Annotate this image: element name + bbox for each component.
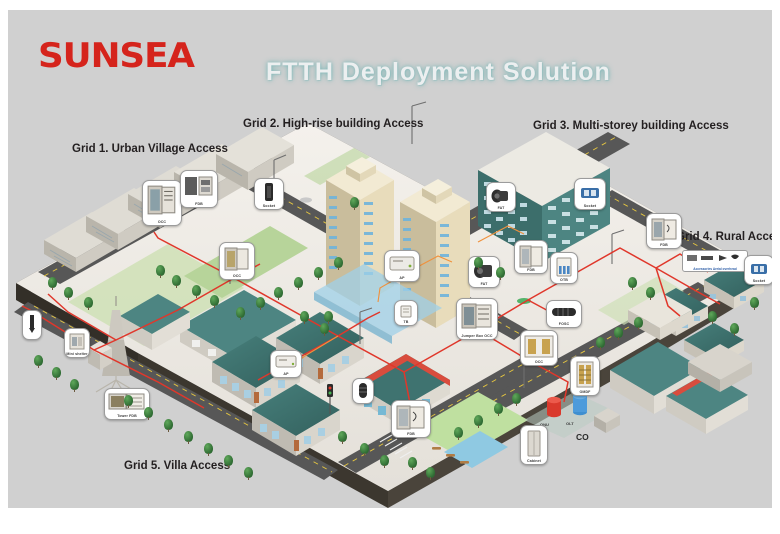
tree [628,276,637,290]
tree [314,266,323,280]
grid-label-4: Grid 4. Rural Access [676,231,772,243]
tree [320,322,329,336]
tree [124,394,133,408]
tree [164,418,173,432]
diagram-canvas: SUNSEA FTTH Deployment Solution Grid 1. … [8,10,772,508]
tree [236,306,245,320]
tree [204,442,213,456]
callout-occ-street-left[interactable]: OCC [219,242,255,280]
callout-label: FAT [487,206,515,210]
ap-icon [274,354,298,370]
tree [474,256,483,270]
shelter-icon [68,332,86,352]
cabinet-open-icon [223,246,251,274]
otb-icon [554,256,574,278]
callout-label: FDB [515,268,547,272]
tree [34,354,43,368]
brand-logo: SUNSEA [38,36,194,76]
cabinet-open-icon [395,404,427,432]
tree [144,406,153,420]
tree [496,266,505,280]
callout-label: OCC [220,274,254,278]
tree [210,294,219,308]
callout-drop-cable-left[interactable] [22,310,42,340]
grid-label-5: Grid 5. Villa Access [124,460,230,472]
tree [52,366,61,380]
tree [730,322,739,336]
drop-icon [26,314,38,334]
tree [646,286,655,300]
callout-socket-rural[interactable]: Socket [744,255,772,285]
socket-icon [578,182,602,204]
tb-icon [398,304,414,320]
tree [708,310,717,324]
tree [224,454,233,468]
callout-fdb-villa-store[interactable]: FDB [391,400,431,438]
callout-label: Socket [745,279,772,283]
olt-label: OLT [566,421,574,426]
callout-label: FOSC [547,322,581,326]
tree [156,264,165,278]
tree [70,378,79,392]
tree [360,442,369,456]
callout-occ-downtown[interactable]: OCC [520,330,558,366]
callout-fdb-multistorey[interactable]: FDB [514,240,548,274]
cabinet-tall-icon [524,429,544,459]
occ-racks-icon [524,334,554,360]
accessories-caption: Accessories Aerial overhead [683,267,747,271]
tree [596,336,605,350]
cabinet-open-icon [650,217,678,243]
tree [64,286,73,300]
callout-socket-urban-village[interactable]: Socket [254,178,284,210]
tree [454,426,463,440]
tree [172,274,181,288]
tree [256,296,265,310]
callout-fdb-urban-village[interactable]: FDB [180,170,218,208]
callout-label: Tower FDB [105,414,149,418]
callout-fat-multistorey[interactable]: FAT [486,182,516,212]
tree [84,296,93,310]
tree [408,456,417,470]
callout-label: FAT [469,282,499,286]
callout-label: OMDF [571,390,599,394]
tree [380,454,389,468]
callout-cabinet-co[interactable]: Cabinet [520,425,548,465]
tree [184,430,193,444]
callout-label: Jumper Box OCC [457,334,497,338]
grid-label-3: Grid 3. Multi-storey building Access [533,120,729,132]
tree [300,310,309,324]
callout-label: AP [385,276,419,280]
tree [614,326,623,340]
callout-omdf-downtown[interactable]: OMDF [570,356,600,396]
callout-ap-highrise[interactable]: AP [384,250,420,282]
callout-tb-highrise[interactable]: TB [394,300,418,326]
callout-label: FDB [181,202,217,206]
cabinet-open-icon [518,244,544,270]
callout-label: OCC [521,360,557,364]
callout-jumper-box-occ[interactable]: Jumper Box OCC [456,298,498,340]
callout-socket-multistorey[interactable]: Socket [574,178,606,210]
tree [48,276,57,290]
callout-label: TB [395,320,417,324]
grid-label-2: Grid 2. High-rise building Access [243,118,423,130]
tree [294,276,303,290]
tree [634,316,643,330]
callout-occ-urban-village[interactable]: OCC [142,180,182,226]
callout-label: OCC [143,220,181,224]
accessories-panel: Accessories Aerial overhead [682,250,748,272]
page-title: FTTH Deployment Solution [266,58,611,87]
callout-label: FDB [647,243,681,247]
tree [274,286,283,300]
callout-label: Socket [255,204,283,208]
callout-label: Cabinet [521,459,547,463]
omdf-icon [574,360,596,390]
socket-icon [748,259,770,279]
ap-icon [388,254,416,274]
tree [750,296,759,310]
tree [192,284,201,298]
cabinet-open-icon [146,184,178,218]
callout-label: AP [271,372,301,376]
callout-ap-villa[interactable]: AP [270,350,302,378]
callout-closure-villa[interactable] [352,378,374,404]
tree [324,310,333,324]
closure-icon [490,186,512,206]
tree [338,430,347,444]
socket-icon [258,182,280,204]
tree [474,414,483,428]
inline-closure-icon [550,304,578,320]
tree [334,256,343,270]
callout-fosc-street[interactable]: FOSC [546,300,582,328]
tree [494,402,503,416]
callout-label: Socket [575,204,605,208]
callout-fdb-rural[interactable]: FDB [646,213,682,249]
inline-closure-icon [356,382,370,400]
callout-label: Mini shelter [65,352,89,356]
screenshot-root: SUNSEA FTTH Deployment Solution Grid 1. … [0,0,780,534]
tree [512,392,521,406]
tree [426,466,435,480]
cabinet-open-icon [460,302,494,332]
callout-otb-multistorey[interactable]: OTB [550,252,578,284]
callout-label: FDB [392,432,430,436]
callout-mini-shelter[interactable]: Mini shelter [64,328,90,358]
co-label: CO [576,432,589,442]
grid-label-1: Grid 1. Urban Village Access [72,143,228,155]
tree [244,466,253,480]
callout-label: OTB [551,278,577,282]
box-pair-icon [184,174,214,200]
tree [350,196,359,210]
